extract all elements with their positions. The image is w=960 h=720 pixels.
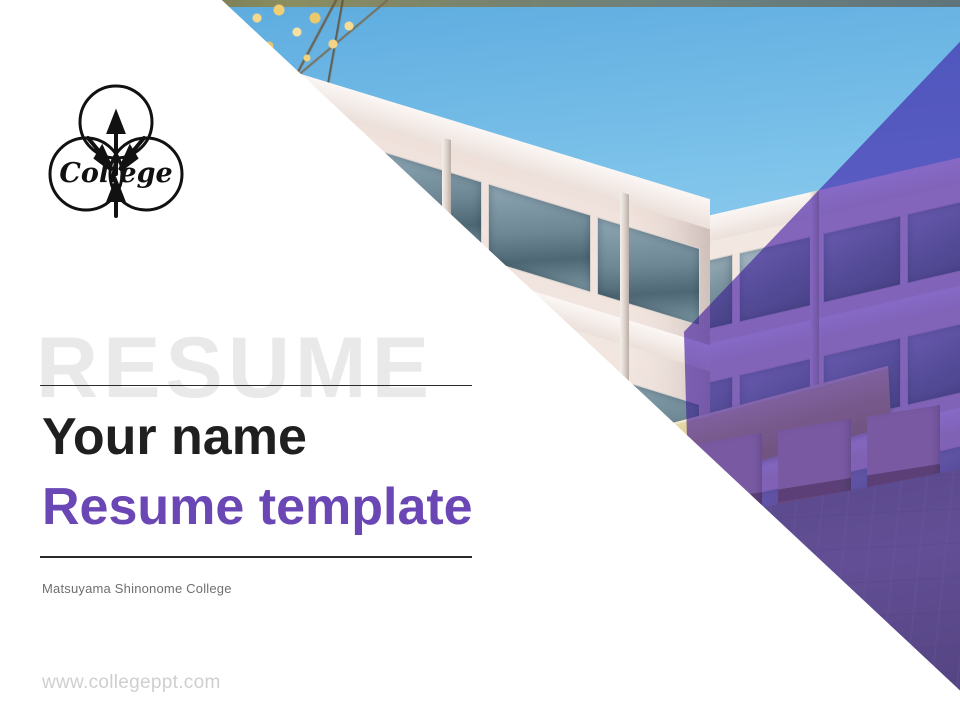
logo-wordmark: College xyxy=(59,158,172,189)
page-subtitle: Resume template xyxy=(42,478,473,536)
page-title: Your name xyxy=(42,408,307,466)
divider-bottom xyxy=(40,556,472,558)
website-footer: www.collegeppt.com xyxy=(42,672,221,694)
resume-watermark: RESUME xyxy=(36,325,434,411)
photo-top-edge-strip xyxy=(0,0,960,7)
divider-top xyxy=(40,385,472,386)
resume-title-slide: College RESUME Your name Resume template… xyxy=(0,0,960,720)
college-trefoil-logo: College xyxy=(48,78,184,218)
organization-name: Matsuyama Shinonome College xyxy=(42,581,232,596)
